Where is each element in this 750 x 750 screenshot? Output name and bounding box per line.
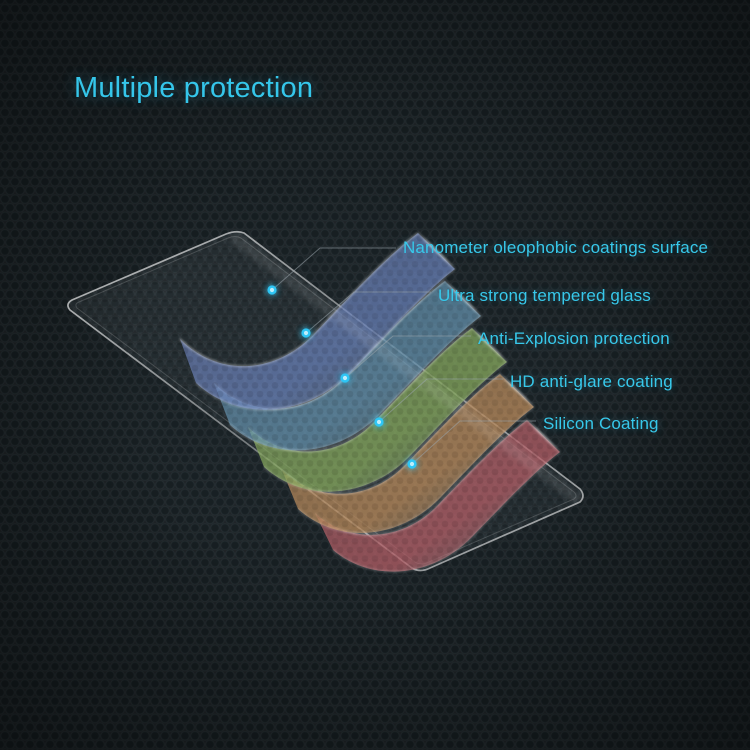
callout-label-hd-antiglare: HD anti-glare coating (510, 372, 673, 392)
callout-label-group: Nanometer oleophobic coatings surface Ul… (0, 0, 750, 750)
callout-label-oleophobic-coating: Nanometer oleophobic coatings surface (403, 238, 708, 258)
callout-label-silicon-coating: Silicon Coating (543, 414, 659, 434)
infographic-canvas: Multiple protection (0, 0, 750, 750)
callout-label-anti-explosion: Anti-Explosion protection (478, 329, 670, 349)
callout-label-tempered-glass: Ultra strong tempered glass (438, 286, 651, 306)
